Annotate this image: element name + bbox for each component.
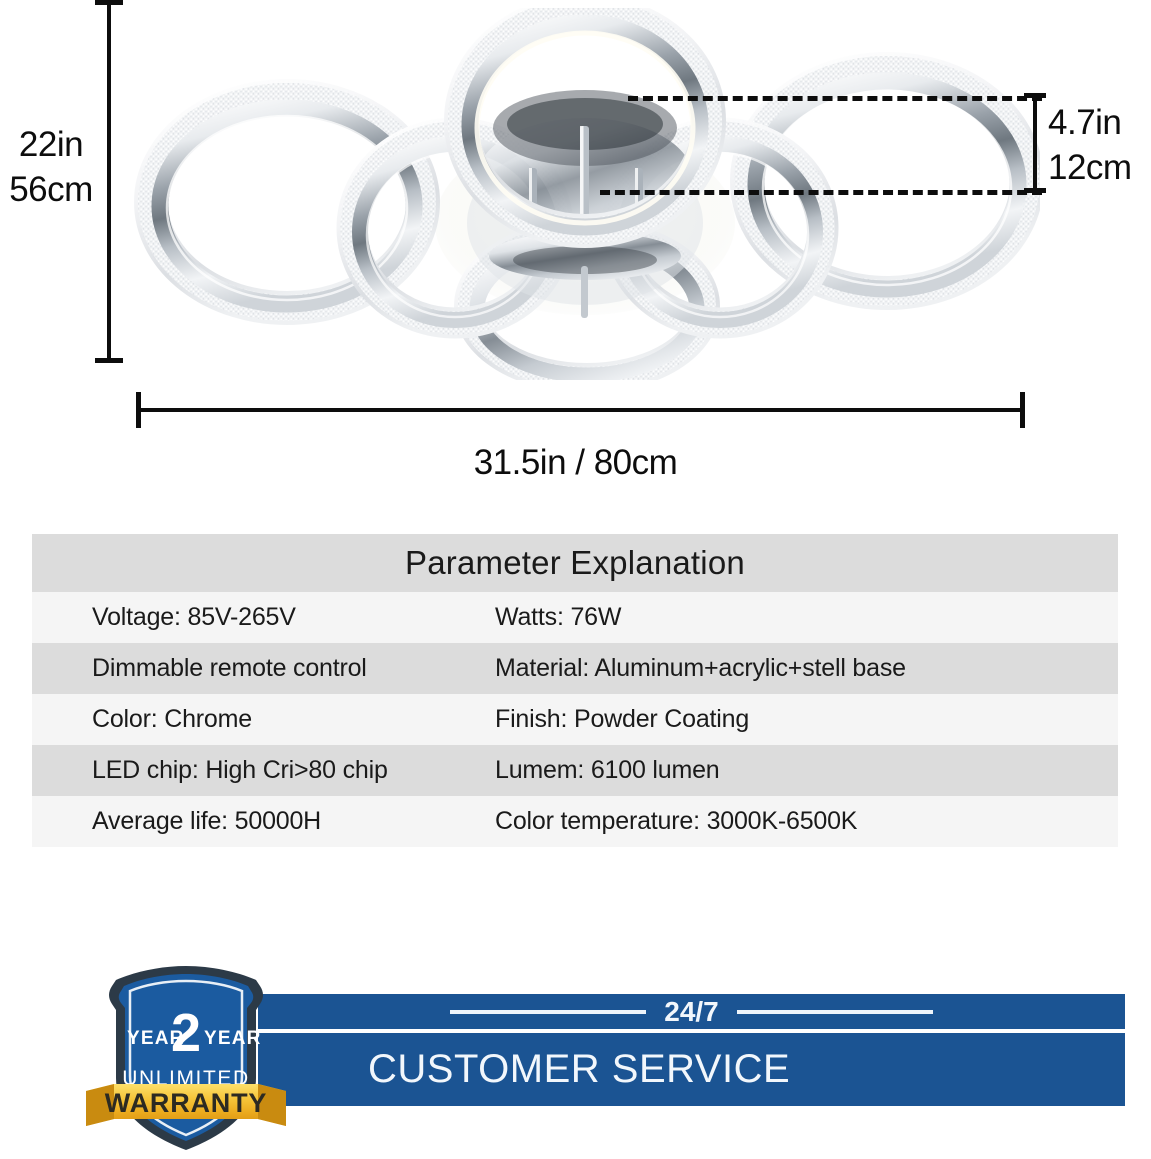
table-row: LED chip: High Cri>80 chip Lumem: 6100 l… [32,745,1118,796]
width-dimension-shaft [137,408,1023,412]
width-dimension-line [134,392,1026,430]
width-dimension-cap-right [1020,392,1025,428]
banner-hours-row: 24/7 [258,994,1125,1029]
thickness-dimension-cap-top [1024,93,1046,98]
banner-service-text: CUSTOMER SERVICE [258,1033,1125,1106]
parameter-cell-color: Color: Chrome [32,705,487,734]
height-centimeters-text: 56cm [2,167,100,212]
customer-service-banner: 24/7 CUSTOMER SERVICE YEAR 2 Y [0,960,1151,1159]
warranty-badge: YEAR 2 YEAR UNLIMITED WARRANTY [86,960,286,1156]
warranty-year-right-text: YEAR [204,1028,262,1049]
warranty-word-text: WARRANTY [105,1088,267,1118]
thickness-dimension-cap-bottom [1024,188,1046,193]
height-dimension-line [104,0,114,366]
parameter-cell-led-chip: LED chip: High Cri>80 chip [32,756,487,785]
parameter-cell-color-temperature: Color temperature: 3000K-6500K [487,807,1118,836]
thickness-extension-line-bottom [600,190,1042,195]
parameter-table-header: Parameter Explanation [32,534,1118,592]
warranty-number-text: 2 [171,1003,201,1063]
width-dimension-cap-left [136,392,141,428]
thickness-dimension-shaft [1033,96,1037,192]
thickness-extension-line-top [628,96,1042,101]
parameter-cell-dimmable: Dimmable remote control [32,654,487,683]
parameter-cell-watts: Watts: 76W [487,603,1118,632]
table-row: Dimmable remote control Material: Alumin… [32,643,1118,694]
product-dimension-section: 22in 56cm 31.5in / 80cm 4.7in 12cm [0,0,1151,512]
thickness-dimension-line [1030,93,1040,195]
parameter-cell-voltage: Voltage: 85V-265V [32,603,487,632]
parameter-cell-finish: Finish: Powder Coating [487,705,1118,734]
height-dimension-label: 22in 56cm [2,122,100,212]
parameter-cell-average-life: Average life: 50000H [32,807,487,836]
height-dimension-shaft [107,3,111,363]
parameter-explanation-table: Parameter Explanation Voltage: 85V-265V … [32,534,1118,847]
height-dimension-cap-bottom [95,358,123,363]
banner-rule-left [450,1010,646,1014]
width-dimension-label: 31.5in / 80cm [0,442,1151,484]
thickness-centimeters-text: 12cm [1048,145,1151,190]
table-row: Voltage: 85V-265V Watts: 76W [32,592,1118,643]
banner-hours-text: 24/7 [664,997,719,1027]
thickness-dimension-label: 4.7in 12cm [1048,100,1151,190]
height-inches-text: 22in [2,122,100,167]
banner-rule-right [737,1010,933,1014]
parameter-cell-lumen: Lumem: 6100 lumen [487,756,1118,785]
height-dimension-cap-top [95,0,123,5]
parameter-table-title: Parameter Explanation [405,544,745,582]
parameter-cell-material: Material: Aluminum+acrylic+stell base [487,654,1118,683]
thickness-inches-text: 4.7in [1048,100,1151,145]
table-row: Color: Chrome Finish: Powder Coating [32,694,1118,745]
table-row: Average life: 50000H Color temperature: … [32,796,1118,847]
